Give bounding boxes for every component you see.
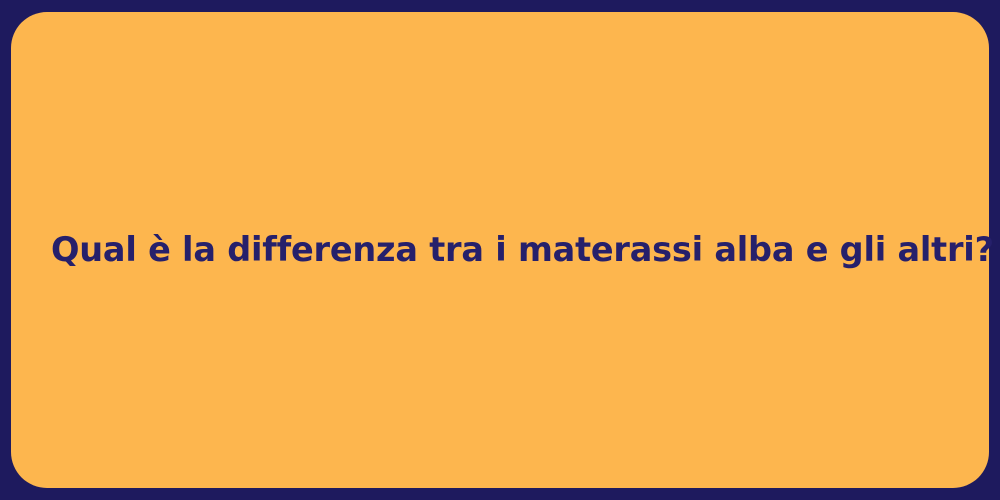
- question-heading: Qual è la differenza tra i materassi alb…: [51, 229, 949, 271]
- faq-question-banner: Qual è la differenza tra i materassi alb…: [0, 0, 1000, 500]
- card-outer-frame: Qual è la differenza tra i materassi alb…: [0, 0, 1000, 500]
- question-container: Qual è la differenza tra i materassi alb…: [11, 229, 989, 271]
- card-panel: Qual è la differenza tra i materassi alb…: [11, 12, 989, 488]
